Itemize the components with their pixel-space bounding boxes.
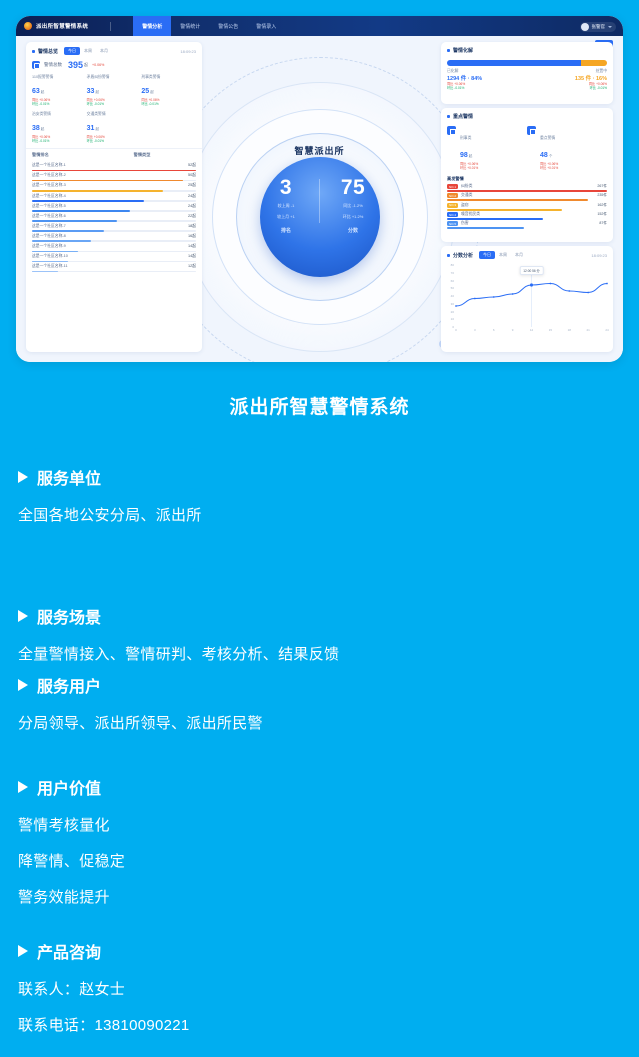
frequent-alarm-name: 伤害: [461, 221, 469, 226]
ranking-row: 这是一个社区名称-524起: [26, 202, 202, 212]
x-tick: 21: [586, 328, 589, 332]
ranking-row-count: 14起: [188, 244, 196, 249]
resolution-panel: 警情化解 已化解 1294 件 · 84% 同比 +0.06% 环比 -0.01…: [441, 42, 613, 104]
key-card-unit: 个: [549, 154, 553, 158]
key-card-label: 刑事类: [460, 136, 471, 140]
bullet-icon: [447, 49, 450, 52]
overview-panel: 警情总览 今日 本周 本月 18:09:23 警情总数 395 起 +0.06%…: [26, 42, 202, 352]
ranking-row-count: 18起: [188, 224, 196, 229]
score-range-week[interactable]: 本周: [495, 251, 511, 259]
ranking-row-name: 这是一个社区名称-5: [32, 204, 66, 209]
rank-badge: NO.3: [447, 203, 458, 208]
nav-tab-1[interactable]: 警情统计: [171, 16, 209, 36]
stat-value: 31: [87, 125, 95, 132]
rank-badge: NO.4: [447, 212, 458, 217]
key-alarms-panel-title: 重点警情: [453, 113, 473, 120]
contact-phone: 联系电话：13810090221: [18, 1014, 621, 1035]
range-week[interactable]: 本周: [80, 47, 96, 55]
frequent-alarm-bar: [447, 227, 524, 229]
ranking-row-name: 这是一个社区名称-2: [32, 173, 66, 178]
x-tick: 18: [568, 328, 571, 332]
frequent-alarms-list: NO.1纠纷类267件NO.2交通类235件NO.3盗窃162件NO.4噪音扰民…: [441, 183, 613, 229]
stat-delta-2: 环比 -0.01%: [87, 139, 142, 143]
avatar: [581, 23, 589, 31]
ranking-row: 这是一个社区名称-622起: [26, 212, 202, 222]
key-alarms-panel: 重点警情 刑事类 98起 同比 +0.06% 环比 +0.01% 重点警情: [441, 108, 613, 242]
nav-tab-2[interactable]: 警情公告: [209, 16, 247, 36]
resolved-delta-2: 环比 -0.01%: [447, 86, 482, 90]
frequent-alarm-name: 噪音扰民类: [461, 212, 480, 217]
chart-y-axis: 01020304050607080: [445, 265, 455, 327]
center-kpi-row: 3 较上周 -1 较上月 +1 排名 75 同比 -1.2% 环比 +1.2% …: [257, 177, 382, 234]
progress-pending: [581, 60, 607, 66]
frequent-alarm-count: 152件: [597, 212, 607, 217]
kpi-rank-sub2: 较上月 +1: [257, 214, 315, 220]
total-alarms-unit: 起: [84, 62, 88, 68]
ranking-row-name: 这是一个社区名称-6: [32, 214, 66, 219]
section-line: 全量警情接入、警情研判、考核分析、结果反馈: [18, 643, 621, 664]
ranking-row: 这是一个社区名称-914起: [26, 242, 202, 252]
kpi-rank-sub1: 较上周 -1: [257, 203, 315, 209]
progress-resolved: [447, 60, 581, 66]
police-emblem-icon: [24, 22, 32, 30]
header-divider: [110, 22, 111, 31]
stat-value: 25: [141, 88, 149, 95]
frequent-alarm-name: 交通类: [461, 193, 472, 198]
user-name: 张警官: [592, 24, 606, 30]
chart-plot-area: 12:00 56 分: [456, 267, 607, 327]
resolution-panel-header: 警情化解: [441, 42, 613, 56]
ranking-row: 这是一个社区名称-1014起: [26, 252, 202, 262]
key-card-delta-2: 环比 +0.01%: [460, 166, 478, 170]
x-tick: 3: [474, 328, 476, 332]
dashboard-header: 派出所智慧警情系统 警情分析 警情统计 警情公告 警情录入 张警官: [16, 16, 623, 36]
ranking-row-count: 52起: [188, 163, 196, 168]
key-card-value: 98: [460, 152, 468, 159]
frequent-alarm-count: 267件: [597, 184, 607, 189]
ranking-row: 这是一个社区名称-1112起: [26, 262, 202, 272]
ranking-col-type[interactable]: 警情类型: [134, 152, 183, 158]
stat-card: 治安类警情 38起 同比 +0.06% 环比 -0.01%: [32, 112, 87, 144]
ranking-row-count: 22起: [188, 214, 196, 219]
ranking-list-header: 警情排名 警情类型: [26, 148, 202, 161]
x-tick: 0: [455, 328, 457, 332]
section-heading-text: 服务场景: [37, 604, 101, 628]
stat-card: 110报警警情 63起 同比 +0.06% 环比 -0.01%: [32, 75, 87, 107]
ranking-row-count: 25起: [188, 183, 196, 188]
range-month[interactable]: 本月: [96, 47, 112, 55]
resolution-progress-bar: [447, 60, 607, 66]
y-tick: 10: [451, 317, 454, 321]
alarm-total-icon: [32, 61, 40, 69]
kpi-rank-caption: 排名: [257, 227, 315, 234]
section-heading: 服务用户: [18, 673, 621, 697]
ranking-row-bar: [32, 271, 196, 273]
triangle-bullet-icon: [18, 781, 28, 793]
section-line: 全国各地公安分局、派出所: [18, 504, 621, 525]
ranking-row-count: 50起: [188, 173, 196, 178]
rank-badge: NO.2: [447, 193, 458, 198]
frequent-alarm-count: 162件: [597, 203, 607, 208]
score-line-chart: 01020304050607080 12:00 56 分 03691215182…: [445, 265, 609, 337]
stat-card: 刑事类警情 25起 同比 +0.06% 环比 -0.01%: [141, 75, 196, 107]
kpi-rank-value: 3: [257, 177, 315, 198]
stat-card-grid: 110报警警情 63起 同比 +0.06% 环比 -0.01% 矛盾纠纷警情 3…: [26, 72, 202, 148]
pending-value: 135 件 · 16%: [575, 74, 607, 82]
ranking-row: 这是一个社区名称-424起: [26, 192, 202, 202]
section-heading-text: 服务单位: [37, 465, 101, 489]
kpi-score-sub1: 同比 -1.2%: [324, 203, 382, 209]
y-tick: 70: [451, 271, 454, 275]
frequent-alarms-title: 高发警情: [441, 171, 613, 183]
key-card: 重点警情 48个 同比 +0.06% 环比 +0.01%: [527, 126, 607, 171]
stat-unit: 起: [150, 90, 154, 94]
y-tick: 20: [451, 310, 454, 314]
key-alarm-icon: [527, 126, 536, 135]
ranking-row-name: 这是一个社区名称-10: [32, 254, 68, 259]
section-service-users: 服务用户 分局领导、派出所领导、派出所民警: [18, 673, 621, 733]
ranking-row-count: 12起: [188, 264, 196, 269]
section-line: 警务效能提升: [18, 886, 621, 907]
score-panel-header: 分数分析 今日 本周 本月 18:09:23: [441, 246, 613, 261]
stat-delta-2: 环比 -0.01%: [32, 139, 87, 143]
ranking-row: 这是一个社区名称-718起: [26, 222, 202, 232]
contact-person: 联系人：赵女士: [18, 978, 621, 999]
ranking-row-name: 这是一个社区名称-11: [32, 264, 68, 269]
section-line: 降警情、促稳定: [18, 850, 621, 871]
section-product-contact: 产品咨询 联系人：赵女士 联系电话：13810090221: [18, 939, 621, 1035]
resolution-legend: 已化解 1294 件 · 84% 同比 +0.06% 环比 -0.01% 处置中…: [441, 66, 613, 91]
stat-unit: 起: [41, 90, 45, 94]
criminal-icon: [447, 126, 456, 135]
dashboard-screenshot: 派出所智慧警情系统 警情分析 警情统计 警情公告 警情录入 张警官 全屏: [16, 16, 623, 362]
frequent-alarm-count: 235件: [597, 193, 607, 198]
ranking-row-name: 这是一个社区名称-3: [32, 183, 66, 188]
center-gauge: 智慧派出所 3 较上周 -1 较上月 +1 排名 75 同比 -1.2% 环比 …: [155, 52, 485, 362]
frequent-alarm-row: NO.2交通类235件: [441, 192, 613, 201]
ranking-row-count: 16起: [188, 234, 196, 239]
bullet-icon: [447, 254, 450, 257]
y-tick: 0: [452, 325, 454, 329]
key-card-label: 重点警情: [540, 136, 555, 140]
key-card-delta-2: 环比 +0.01%: [540, 166, 558, 170]
section-line: 分局领导、派出所领导、派出所民警: [18, 712, 621, 733]
x-tick: 24: [605, 328, 608, 332]
ranking-row-count: 24起: [188, 204, 196, 209]
pending-delta-2: 环比 -0.01%: [575, 86, 607, 90]
pending-group: 处置中 135 件 · 16% 同比 +0.06% 环比 -0.01%: [575, 69, 607, 91]
score-timestamp: 18:09:23: [591, 253, 607, 258]
range-today[interactable]: 今日: [64, 47, 80, 55]
rank-badge: NO.5: [447, 221, 458, 226]
overview-panel-title: 警情总览: [38, 48, 58, 55]
stat-delta-2: 环比 -0.01%: [32, 102, 87, 106]
dashboard-nav: 警情分析 警情统计 警情公告 警情录入: [133, 16, 285, 36]
frequent-alarm-row: NO.3盗窃162件: [441, 201, 613, 210]
score-analysis-panel: 分数分析 今日 本周 本月 18:09:23 01020304050607080…: [441, 246, 613, 352]
resolved-group: 已化解 1294 件 · 84% 同比 +0.06% 环比 -0.01%: [447, 69, 482, 91]
y-tick: 50: [451, 286, 454, 290]
chevron-down-icon: [608, 26, 612, 28]
stat-unit: 起: [95, 127, 99, 131]
kpi-score-caption: 分数: [324, 227, 382, 234]
bullet-icon: [447, 115, 450, 118]
total-alarms-label: 警情总数: [44, 62, 62, 68]
frequent-alarm-row: NO.5伤害87件: [441, 220, 613, 229]
kpi-rank: 3 较上周 -1 较上月 +1 排名: [257, 177, 315, 234]
ranking-row-count: 24起: [188, 194, 196, 199]
section-service-scenario: 服务场景 全量警情接入、警情研判、考核分析、结果反馈: [18, 604, 621, 664]
ranking-row-count: 14起: [188, 254, 196, 259]
x-tick: 12: [530, 328, 533, 332]
score-range-month[interactable]: 本月: [511, 251, 527, 259]
ranking-row: 这是一个社区名称-325起: [26, 181, 202, 191]
ranking-row-name: 这是一个社区名称-8: [32, 234, 66, 239]
score-range-segmented[interactable]: 今日 本周 本月: [479, 251, 527, 259]
ranking-row-name: 这是一个社区名称-1: [32, 163, 66, 168]
y-tick: 40: [451, 294, 454, 298]
ranking-row-name: 这是一个社区名称-4: [32, 194, 66, 199]
bullet-icon: [32, 50, 35, 53]
stat-value: 63: [32, 88, 40, 95]
kpi-score: 75 同比 -1.2% 环比 +1.2% 分数: [324, 177, 382, 234]
stat-delta-2: 环比 -0.01%: [87, 102, 142, 106]
ranking-list: 这是一个社区名称-152起这是一个社区名称-250起这是一个社区名称-325起这…: [26, 161, 202, 272]
frequent-alarm-count: 87件: [599, 221, 607, 226]
section-heading: 用户价值: [18, 775, 621, 799]
y-tick: 60: [451, 279, 454, 283]
section-heading-text: 产品咨询: [37, 939, 101, 963]
ranking-row: 这是一个社区名称-250起: [26, 171, 202, 181]
rank-badge: NO.1: [447, 184, 458, 189]
product-screenshot-card: 派出所智慧警情系统 警情分析 警情统计 警情公告 警情录入 张警官 全屏: [16, 16, 623, 362]
total-alarms-row: 警情总数 395 起 +0.06%: [26, 57, 202, 72]
stat-card: 矛盾纠纷警情 33起 同比 +0.06% 环比 -0.01%: [87, 75, 142, 107]
frequent-alarm-name: 纠纷类: [461, 184, 472, 189]
triangle-bullet-icon: [18, 471, 28, 483]
stat-unit: 起: [95, 90, 99, 94]
y-tick: 80: [451, 263, 454, 267]
triangle-bullet-icon: [18, 610, 28, 622]
y-tick: 30: [451, 302, 454, 306]
total-alarms-value: 395: [68, 60, 83, 70]
section-heading-text: 用户价值: [37, 775, 101, 799]
ranking-col-name: 警情排名: [32, 152, 134, 158]
nav-tab-0[interactable]: 警情分析: [133, 16, 171, 36]
frequent-alarm-row: NO.4噪音扰民类152件: [441, 211, 613, 220]
overview-range-segmented[interactable]: 今日 本周 本月: [64, 47, 112, 55]
key-card-value: 48: [540, 152, 548, 159]
overview-panel-header: 警情总览 今日 本周 本月 18:09:23: [26, 42, 202, 57]
stat-value: 33: [87, 88, 95, 95]
section-heading: 服务单位: [18, 465, 621, 489]
center-title: 智慧派出所: [294, 144, 344, 157]
stat-value: 38: [32, 125, 40, 132]
ranking-row-name: 这是一个社区名称-7: [32, 224, 66, 229]
chart-x-axis: 03691215182124: [456, 328, 607, 337]
triangle-bullet-icon: [18, 945, 28, 957]
frequent-alarm-row: NO.1纠纷类267件: [441, 183, 613, 192]
score-range-today[interactable]: 今日: [479, 251, 495, 259]
section-user-value: 用户价值 警情考核量化 降警情、促稳定 警务效能提升: [18, 775, 621, 907]
kpi-divider: [319, 179, 320, 223]
stat-unit: 起: [41, 127, 45, 131]
key-alarms-cards: 刑事类 98起 同比 +0.06% 环比 +0.01% 重点警情 48个 同比 …: [441, 122, 613, 171]
triangle-bullet-icon: [18, 679, 28, 691]
user-menu[interactable]: 张警官: [580, 22, 617, 32]
section-heading: 服务场景: [18, 604, 621, 628]
x-tick: 15: [549, 328, 552, 332]
dashboard-app-title: 派出所智慧警情系统: [36, 22, 88, 30]
section-line: 警情考核量化: [18, 814, 621, 835]
ranking-row: 这是一个社区名称-152起: [26, 161, 202, 171]
x-tick: 9: [512, 328, 514, 332]
resolved-value: 1294 件 · 84%: [447, 74, 482, 82]
x-tick: 6: [493, 328, 495, 332]
kpi-score-sub2: 环比 +1.2%: [324, 214, 382, 220]
section-service-unit: 服务单位 全国各地公安分局、派出所: [18, 465, 621, 525]
overview-timestamp: 18:09:23: [180, 49, 196, 54]
kpi-score-value: 75: [324, 177, 382, 198]
resolution-panel-title: 警情化解: [453, 47, 473, 54]
frequent-alarm-name: 盗窃: [461, 203, 469, 208]
section-heading-text: 服务用户: [37, 673, 101, 697]
page-title: 派出所智慧警情系统: [0, 392, 639, 419]
stat-card: 交通类警情 31起 同比 +0.06% 环比 -0.01%: [87, 112, 142, 144]
ranking-row: 这是一个社区名称-816起: [26, 232, 202, 242]
total-alarms-delta: +0.06%: [92, 63, 104, 67]
key-alarms-panel-header: 重点警情: [441, 108, 613, 122]
key-card: 刑事类 98起 同比 +0.06% 环比 +0.01%: [447, 126, 527, 171]
nav-tab-3[interactable]: 警情录入: [247, 16, 285, 36]
ranking-row-name: 这是一个社区名称-9: [32, 244, 66, 249]
score-panel-title: 分数分析: [453, 252, 473, 259]
stat-delta-2: 环比 -0.01%: [141, 102, 196, 106]
key-card-unit: 起: [469, 154, 473, 158]
chart-tooltip: 12:00 56 分: [519, 266, 543, 275]
section-heading: 产品咨询: [18, 939, 621, 963]
